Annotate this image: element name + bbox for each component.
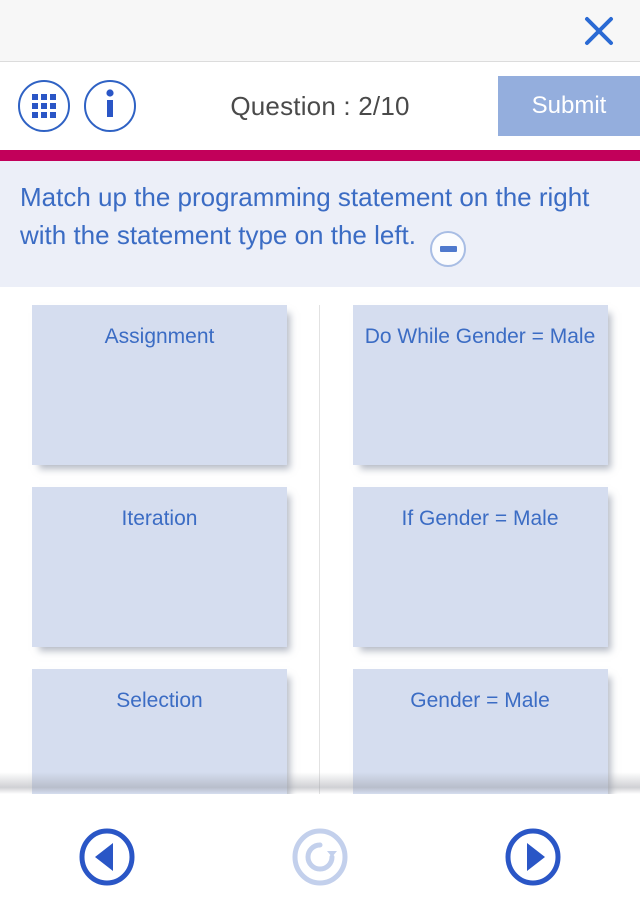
grid-icon <box>32 94 56 118</box>
statement-column: Do While Gender = Male If Gender = Male … <box>320 305 640 794</box>
next-arrow-icon <box>504 828 562 886</box>
previous-arrow-icon <box>78 828 136 886</box>
reset-refresh-icon <box>291 828 349 886</box>
minus-circle-icon <box>440 246 457 252</box>
info-icon <box>102 89 118 124</box>
close-button[interactable] <box>572 4 626 58</box>
quiz-app: Question : 2/10 Submit Match up the prog… <box>0 0 640 920</box>
accent-divider <box>0 150 640 161</box>
match-tile-left[interactable]: Selection <box>32 669 287 794</box>
instruction-text: Match up the programming statement on th… <box>20 182 589 250</box>
info-button[interactable] <box>84 80 136 132</box>
matching-area: Assignment Iteration Selection Do While … <box>0 287 640 794</box>
grid-menu-button[interactable] <box>18 80 70 132</box>
reset-button[interactable] <box>291 828 349 886</box>
bottom-navigation <box>0 794 640 920</box>
title-bar <box>0 0 640 62</box>
next-question-button[interactable] <box>504 828 562 886</box>
match-tile-right[interactable]: If Gender = Male <box>353 487 608 647</box>
match-tile-right[interactable]: Gender = Male <box>353 669 608 794</box>
match-tile-right[interactable]: Do While Gender = Male <box>353 305 608 465</box>
submit-button[interactable]: Submit <box>498 76 640 136</box>
close-icon <box>582 14 616 48</box>
collapse-instruction-button[interactable] <box>430 231 466 267</box>
matching-columns: Assignment Iteration Selection Do While … <box>0 287 640 794</box>
previous-question-button[interactable] <box>78 828 136 886</box>
instruction-panel: Match up the programming statement on th… <box>0 161 640 287</box>
statement-type-column: Assignment Iteration Selection <box>0 305 320 794</box>
quiz-toolbar: Question : 2/10 Submit <box>0 62 640 150</box>
match-tile-left[interactable]: Iteration <box>32 487 287 647</box>
match-tile-left[interactable]: Assignment <box>32 305 287 465</box>
